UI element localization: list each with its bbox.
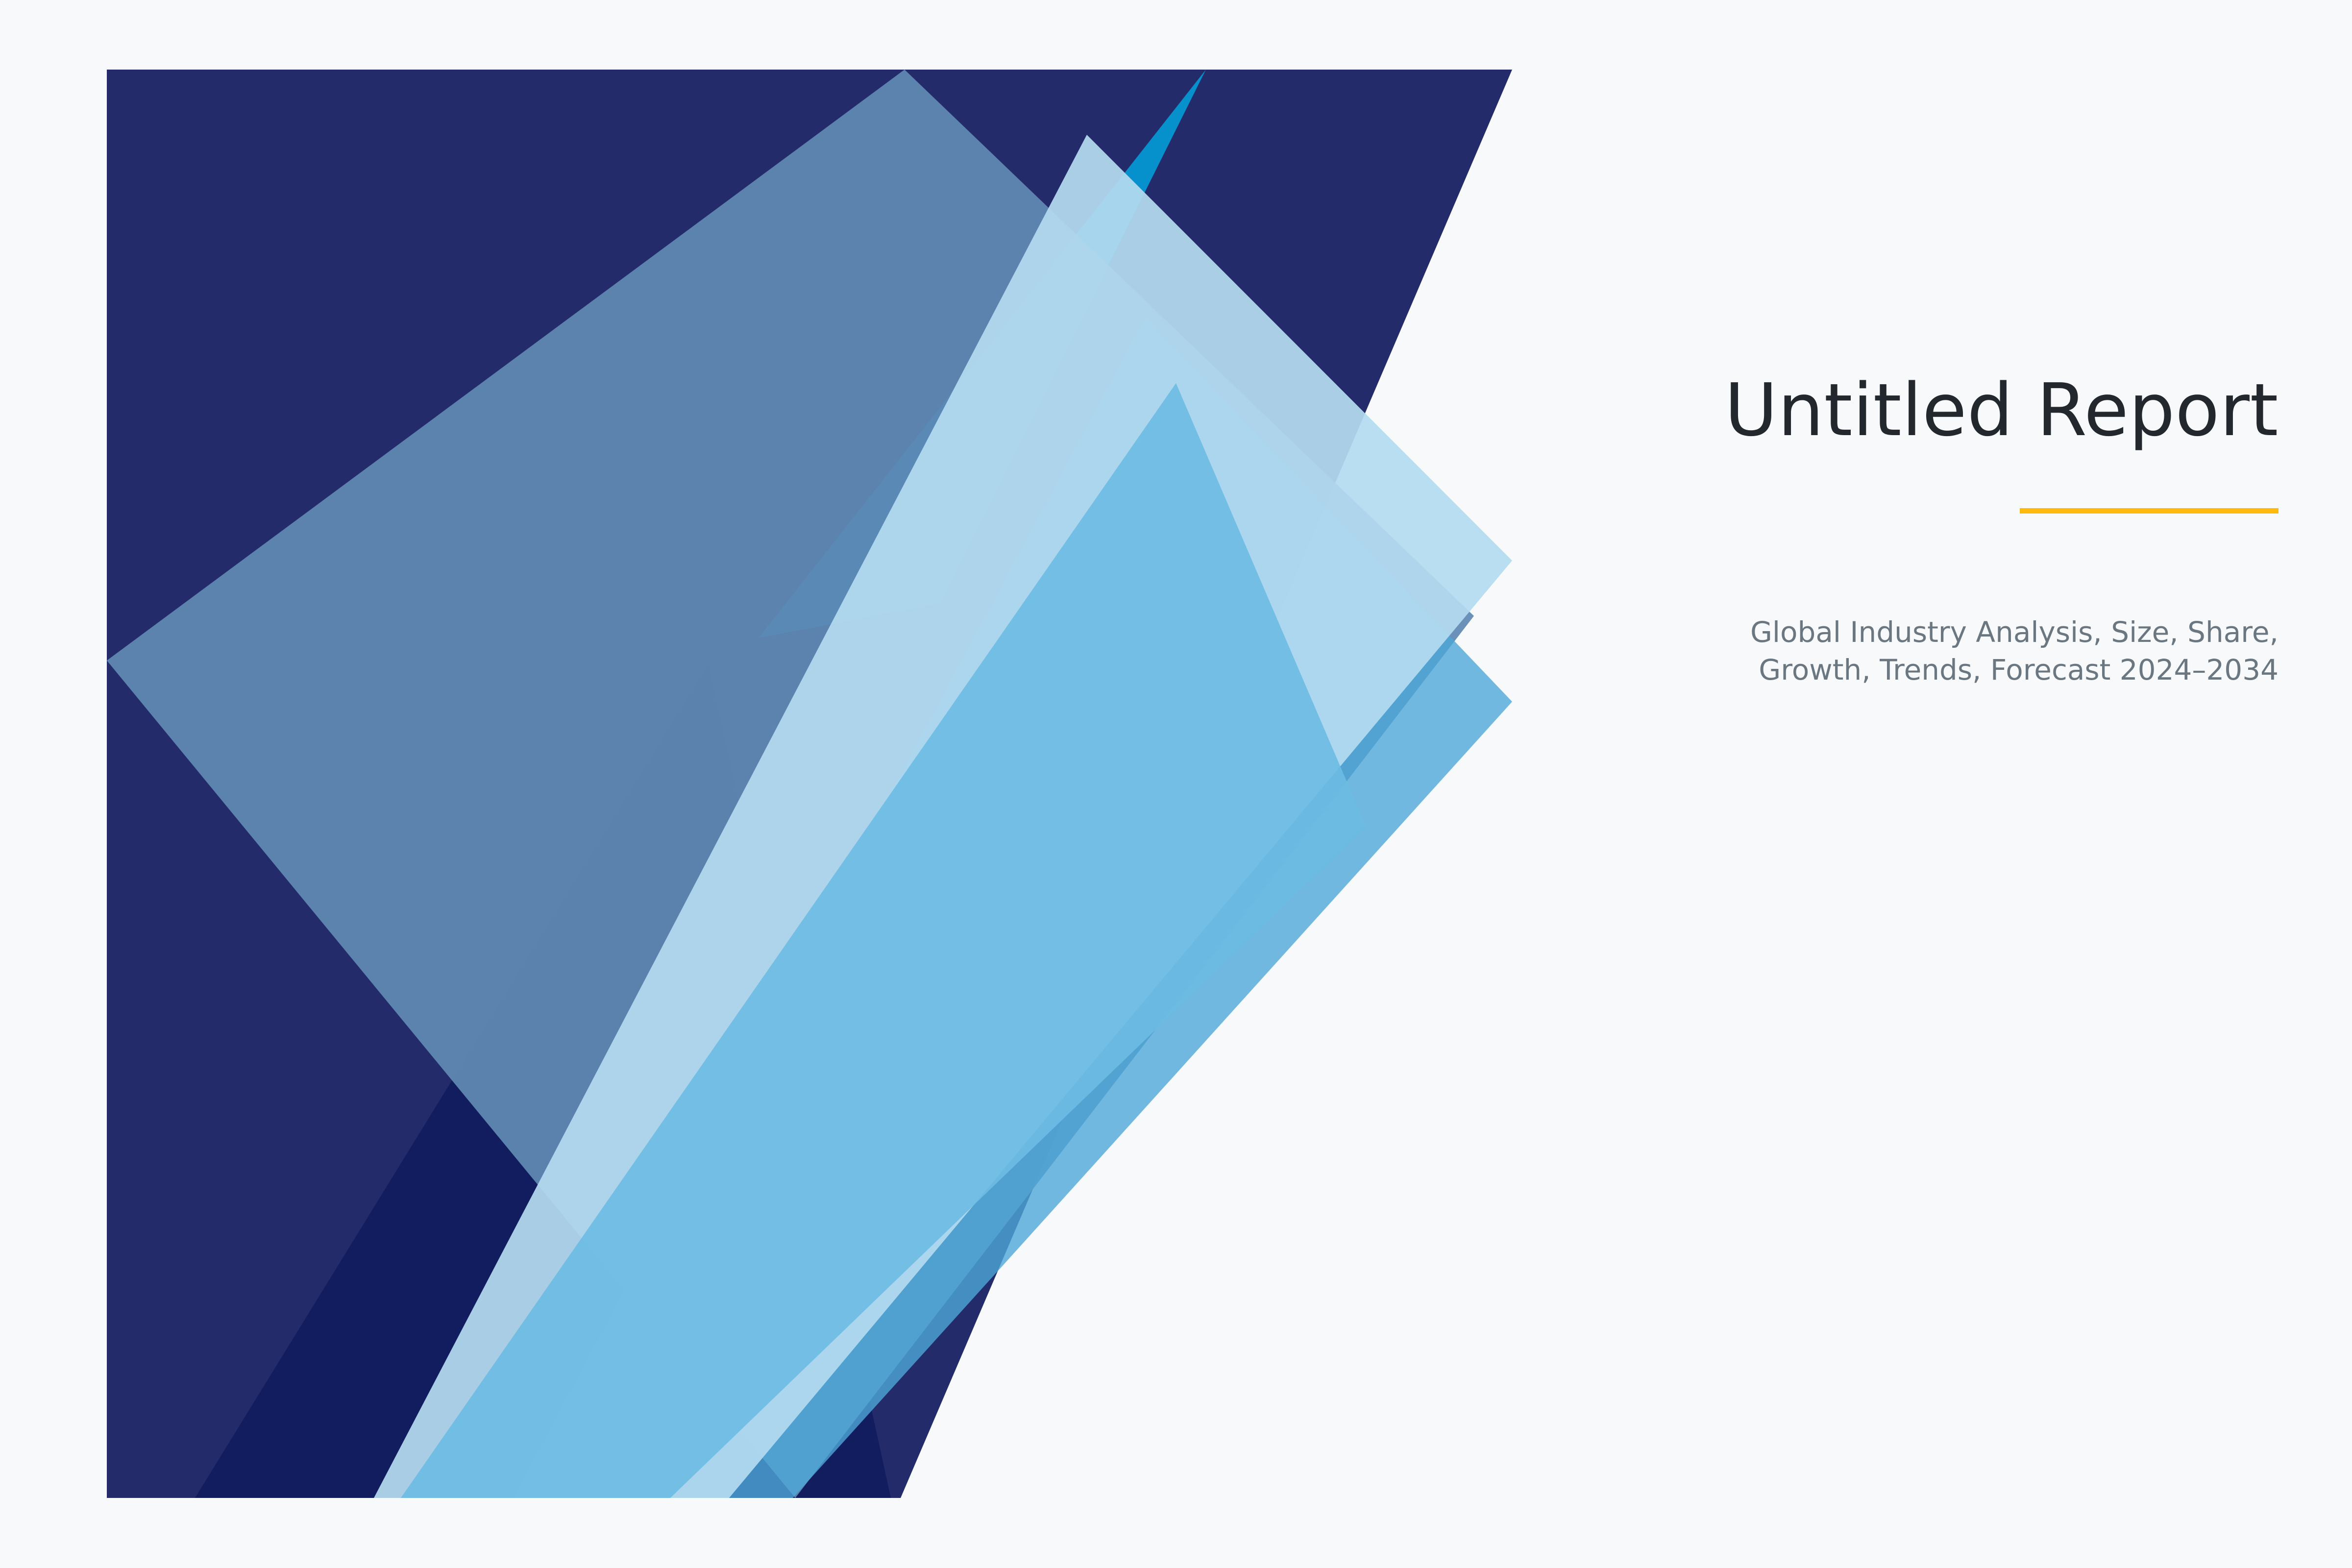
page-title: Untitled Report: [1724, 372, 2278, 448]
cover-artwork: [107, 70, 1512, 1498]
cover-artwork-svg: [107, 70, 1512, 1498]
report-subtitle: Global Industry Analysis, Size, Share, G…: [1750, 613, 2278, 688]
cover-text-column: Untitled Report Global Industry Analysis…: [1568, 0, 2278, 1568]
accent-rule-divider: [2020, 508, 2278, 514]
report-cover-page: Untitled Report Global Industry Analysis…: [0, 0, 2352, 1568]
